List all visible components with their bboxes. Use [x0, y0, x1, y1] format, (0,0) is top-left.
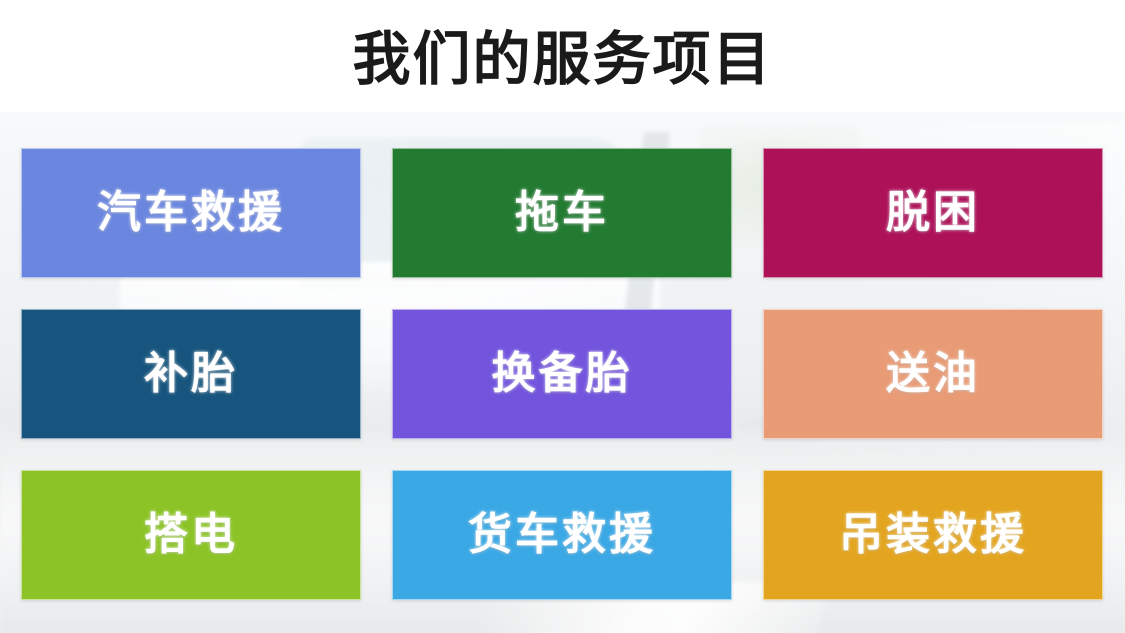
service-tile-fuel-delivery[interactable]: 送油 — [763, 309, 1103, 439]
service-tile-spare-tire[interactable]: 换备胎 — [392, 309, 732, 439]
page-header: 我们的服务项目 — [0, 0, 1125, 112]
service-tile-label: 脱困 — [886, 191, 980, 235]
service-tile-label: 货车救援 — [468, 513, 656, 557]
page-title: 我们的服务项目 — [352, 24, 772, 88]
service-tile-car-rescue[interactable]: 汽车救援 — [21, 148, 361, 278]
service-tile-towing[interactable]: 拖车 — [392, 148, 732, 278]
service-tile-label: 换备胎 — [492, 352, 633, 396]
service-tile-label: 拖车 — [515, 191, 609, 235]
service-grid: 汽车救援拖车脱困补胎换备胎送油搭电货车救援吊装救援 — [21, 148, 1103, 600]
service-tile-label: 吊装救援 — [839, 513, 1027, 557]
service-poster: 我们的服务项目 汽车救援拖车脱困补胎换备胎送油搭电货车救援吊装救援 — [0, 0, 1125, 633]
service-tile-tire-repair[interactable]: 补胎 — [21, 309, 361, 439]
service-tile-label: 补胎 — [144, 352, 238, 396]
service-tile-label: 搭电 — [144, 513, 238, 557]
service-tile-label: 送油 — [886, 352, 980, 396]
service-tile-jump-start[interactable]: 搭电 — [21, 470, 361, 600]
service-tile-label: 汽车救援 — [97, 191, 285, 235]
service-tile-truck-rescue[interactable]: 货车救援 — [392, 470, 732, 600]
service-tile-extrication[interactable]: 脱困 — [763, 148, 1103, 278]
service-tile-crane-rescue[interactable]: 吊装救援 — [763, 470, 1103, 600]
